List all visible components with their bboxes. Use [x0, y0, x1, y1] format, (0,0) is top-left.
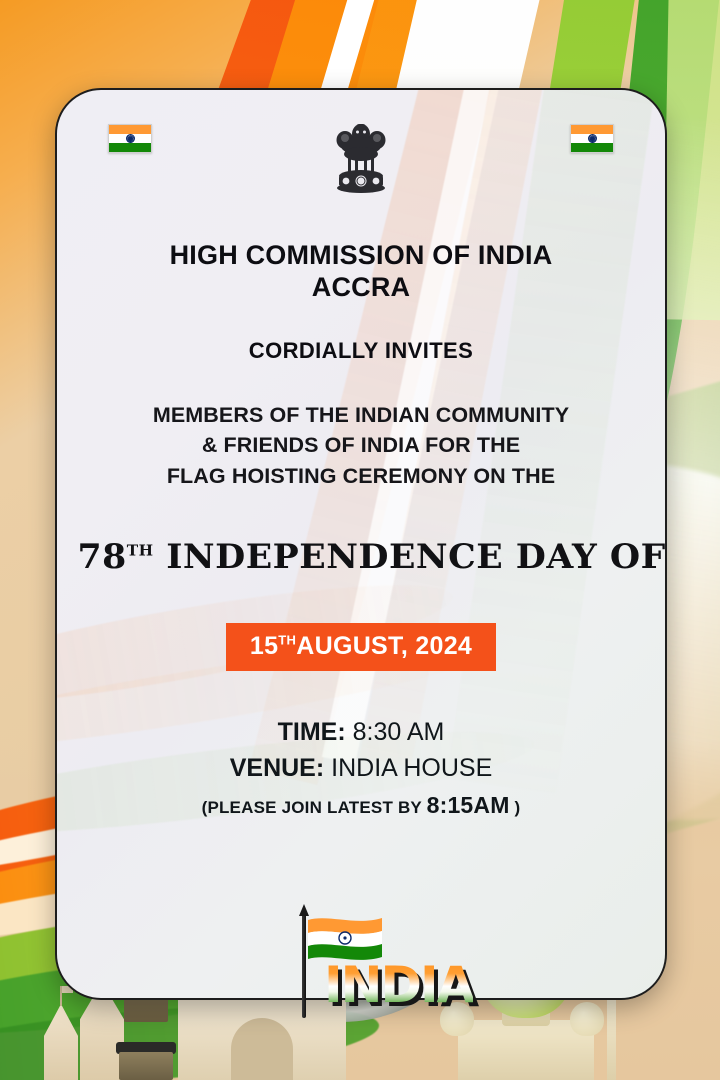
event-details: TIME: 8:30 AM VENUE: INDIA HOUSE (PLEASE… — [83, 715, 639, 819]
invite-body-line-3: FLAG HOISTING CEREMONY ON THE — [83, 461, 639, 492]
india-3d-text: INDIA INDIA — [324, 956, 473, 1014]
headline-ordinal-suffix: TH — [127, 542, 154, 560]
india-3d-word: INDIA — [324, 956, 473, 1014]
event-time-line: TIME: 8:30 AM — [83, 715, 639, 751]
invite-body: MEMBERS OF THE INDIAN COMMUNITY & FRIEND… — [83, 400, 639, 492]
event-note-time: 8:15AM — [427, 792, 510, 818]
organization-name: HIGH COMMISSION OF INDIA ACCRA — [83, 240, 639, 304]
event-headline: 78TH INDEPENDENCE DAY OF INDIA — [77, 537, 644, 577]
headline-text: INDEPENDENCE DAY OF INDIA — [154, 537, 667, 577]
state-emblem-of-india-icon — [328, 118, 394, 198]
event-note-prefix: (PLEASE JOIN LATEST BY — [202, 798, 427, 817]
event-time-label: TIME: — [278, 718, 346, 746]
date-badge-day: 15 — [250, 632, 278, 660]
headline-ordinal-number: 78 — [77, 537, 126, 577]
organization-line-2: ACCRA — [83, 272, 639, 304]
event-note: (PLEASE JOIN LATEST BY 8:15AM ) — [83, 792, 639, 819]
event-note-suffix: ) — [510, 798, 521, 817]
flag-pole — [302, 914, 306, 1018]
event-venue-line: VENUE: INDIA HOUSE — [83, 751, 639, 787]
invite-body-line-1: MEMBERS OF THE INDIAN COMMUNITY — [83, 400, 639, 431]
organization-line-1: HIGH COMMISSION OF INDIA — [83, 240, 639, 272]
card-content: HIGH COMMISSION OF INDIA ACCRA CORDIALLY… — [57, 240, 665, 819]
event-venue-label: VENUE: — [230, 754, 324, 782]
date-badge-rest: AUGUST, 2024 — [296, 632, 472, 660]
waving-india-flag-icon — [308, 916, 382, 962]
date-badge-wrap: 15THAUGUST, 2024 — [83, 623, 639, 671]
india-flag-left-icon — [108, 124, 152, 153]
event-venue-value: INDIA HOUSE — [324, 754, 492, 782]
invite-body-line-2: & FRIENDS OF INDIA FOR THE — [83, 430, 639, 461]
india-flag-right-icon — [570, 124, 614, 153]
date-badge-day-suffix: TH — [278, 633, 296, 648]
event-time-value: 8:30 AM — [346, 718, 445, 746]
invitation-poster: INDIA — [0, 0, 720, 1080]
invite-verb: CORDIALLY INVITES — [83, 338, 639, 364]
invitation-card: HIGH COMMISSION OF INDIA ACCRA CORDIALLY… — [55, 88, 667, 1000]
date-badge: 15THAUGUST, 2024 — [226, 623, 496, 671]
